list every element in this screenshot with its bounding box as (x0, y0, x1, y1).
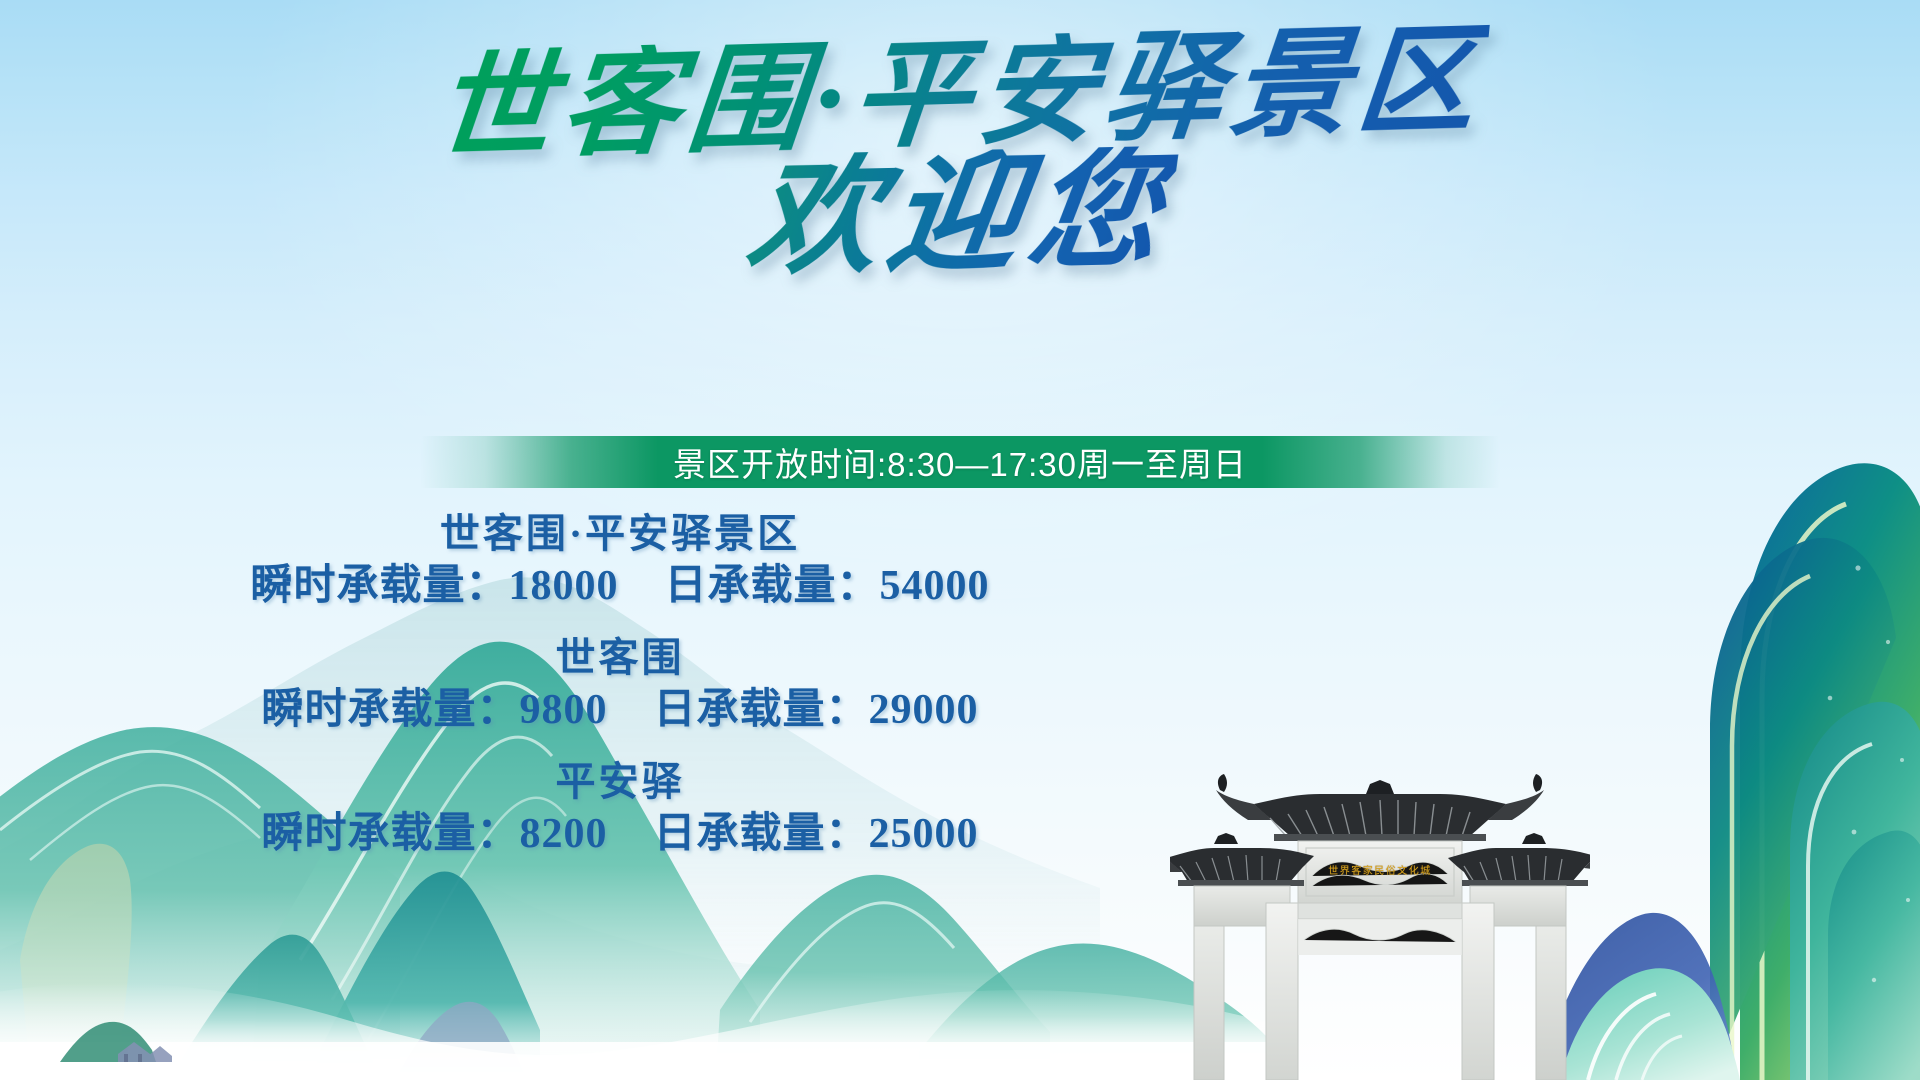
daily-capacity-value: 29000 (869, 687, 979, 733)
capacity-group-pinganyi: 平安驿 瞬时承载量：8200日承载量：25000 (0, 756, 1240, 862)
daily-capacity-value: 54000 (880, 563, 990, 609)
opening-hours-text: 景区开放时间:8:30—17:30周一至周日 (673, 438, 1247, 486)
opening-hours-banner: 景区开放时间:8:30—17:30周一至周日 (420, 436, 1500, 488)
poster-canvas: 世界客家民俗文化城 世客围·平安驿景区 欢迎您 景区开放时间:8:30—17:3… (0, 0, 1920, 1080)
daily-capacity-label: 日承载量： (665, 563, 880, 609)
instant-capacity-label: 瞬时承载量： (261, 687, 519, 733)
daily-capacity-label: 日承载量： (654, 687, 869, 733)
capacity-group-shikewei: 世客围 瞬时承载量：9800日承载量：29000 (0, 632, 1240, 738)
instant-capacity-label: 瞬时承载量： (250, 563, 508, 609)
capacity-group-scenic-area: 世客围·平安驿景区 瞬时承载量：18000日承载量：54000 (0, 508, 1240, 614)
capacity-row: 瞬时承载量：9800日承载量：29000 (0, 683, 1240, 738)
instant-capacity-value: 9800 (520, 687, 608, 733)
instant-capacity-value: 8200 (520, 811, 608, 857)
capacity-row: 瞬时承载量：18000日承载量：54000 (0, 559, 1240, 614)
capacity-group-name: 世客围 (0, 632, 1240, 683)
village-silhouette (60, 992, 300, 1062)
daily-capacity-label: 日承载量： (654, 811, 869, 857)
archway-plaque-text: 世界客家民俗文化城 (1280, 862, 1480, 877)
capacity-info: 世客围·平安驿景区 瞬时承载量：18000日承载量：54000 世客围 瞬时承载… (0, 508, 1240, 861)
daily-capacity-value: 25000 (869, 811, 979, 857)
capacity-group-name: 世客围·平安驿景区 (0, 508, 1240, 559)
headline-line-2: 欢迎您 (740, 146, 1179, 285)
instant-capacity-label: 瞬时承载量： (261, 811, 519, 857)
instant-capacity-value: 18000 (509, 563, 619, 609)
capacity-row: 瞬时承载量：8200日承载量：25000 (0, 807, 1240, 862)
capacity-group-name: 平安驿 (0, 756, 1240, 807)
headline-line-1: 世客围·平安驿景区 (430, 21, 1490, 168)
poster-headline: 世客围·平安驿景区 欢迎您 (0, 36, 1920, 280)
